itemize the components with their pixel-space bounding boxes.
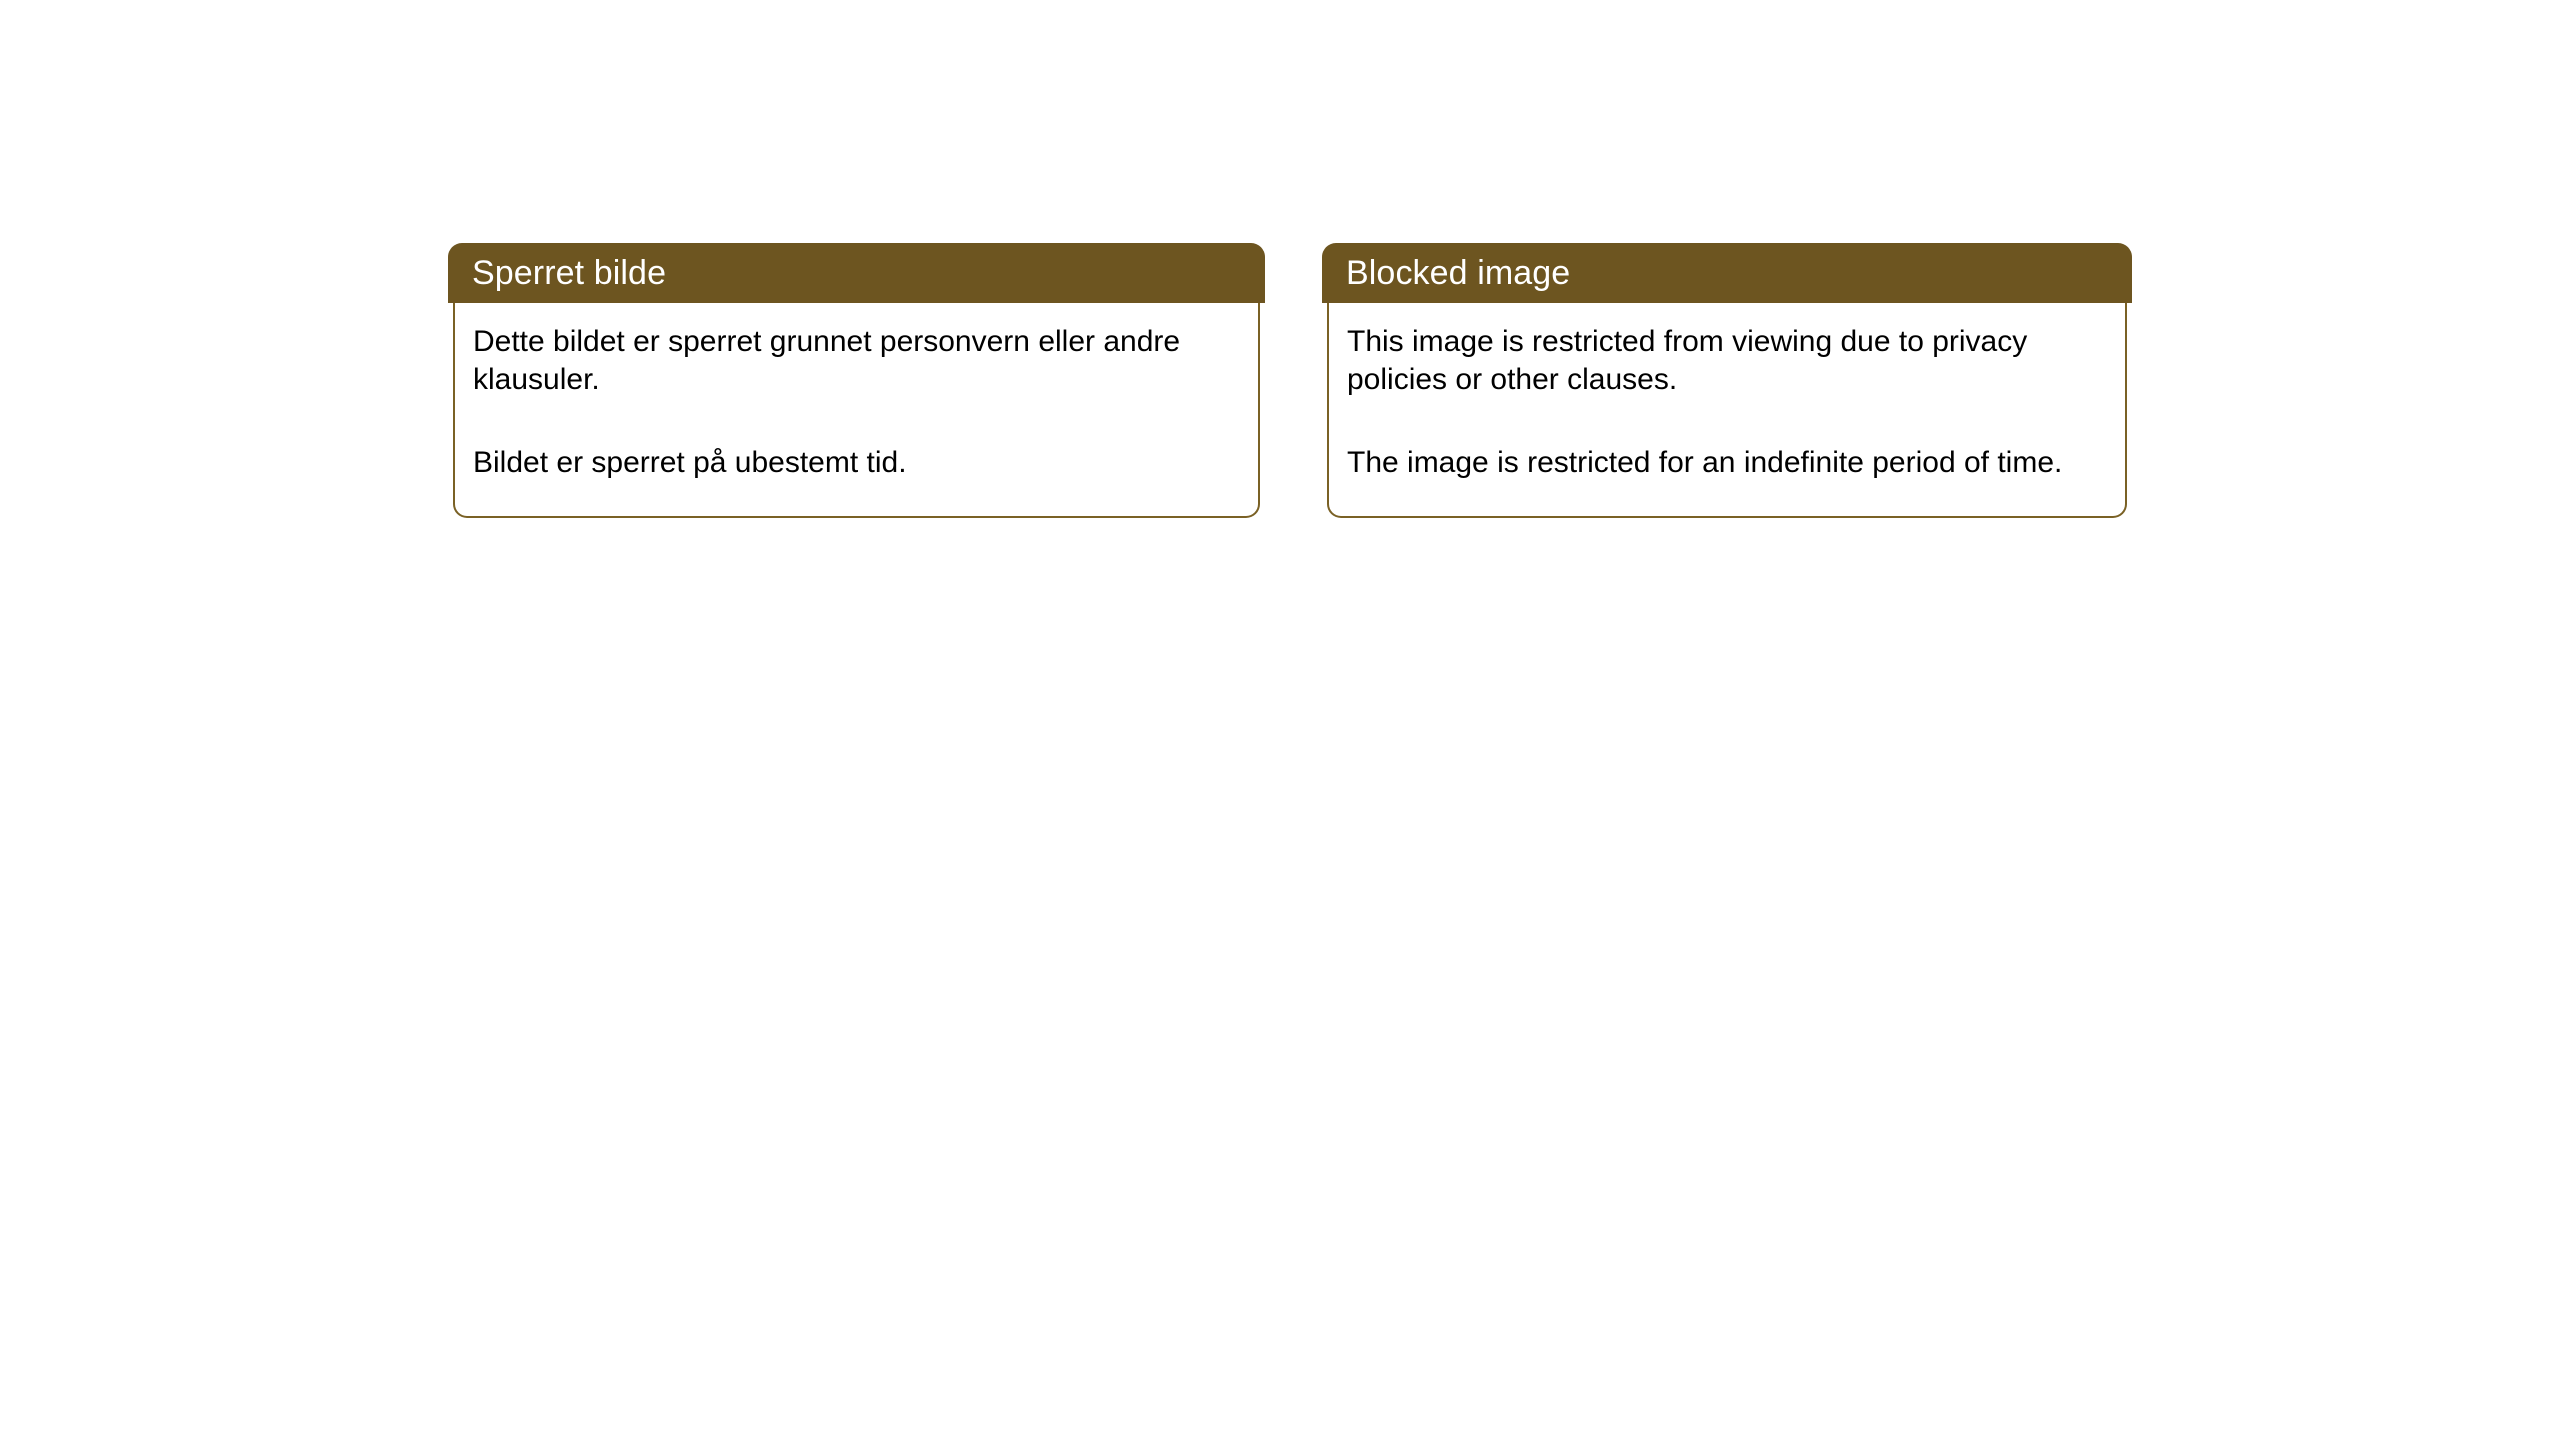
notice-body-norwegian: Dette bildet er sperret grunnet personve… <box>453 303 1260 518</box>
blocked-image-notice-norwegian: Sperret bilde Dette bildet er sperret gr… <box>448 243 1265 518</box>
page-root: Sperret bilde Dette bildet er sperret gr… <box>0 0 2560 1440</box>
notice-title-english: Blocked image <box>1346 256 1570 290</box>
notice-body-english: This image is restricted from viewing du… <box>1327 303 2127 518</box>
notice-card-row: Sperret bilde Dette bildet er sperret gr… <box>448 243 2132 518</box>
notice-header-english: Blocked image <box>1322 243 2132 303</box>
notice-paragraph-primary-english: This image is restricted from viewing du… <box>1347 323 2107 400</box>
notice-title-norwegian: Sperret bilde <box>472 256 666 290</box>
notice-paragraph-secondary-english: The image is restricted for an indefinit… <box>1347 444 2107 482</box>
blocked-image-notice-english: Blocked image This image is restricted f… <box>1322 243 2132 518</box>
notice-header-norwegian: Sperret bilde <box>448 243 1265 303</box>
notice-paragraph-secondary-norwegian: Bildet er sperret på ubestemt tid. <box>473 444 1240 482</box>
notice-paragraph-primary-norwegian: Dette bildet er sperret grunnet personve… <box>473 323 1240 400</box>
